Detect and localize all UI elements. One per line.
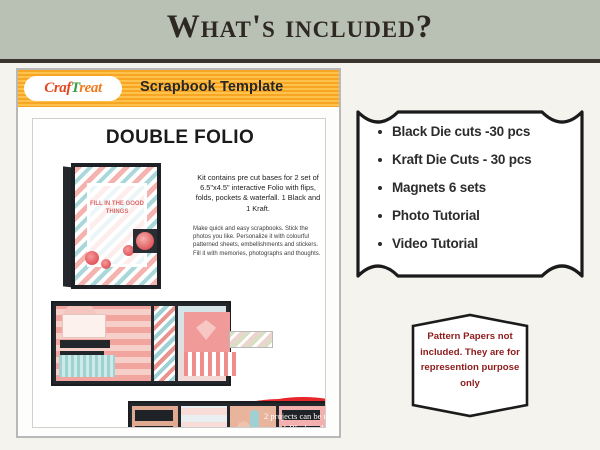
page-title: What's included? [0, 9, 600, 46]
folio-strap [250, 410, 259, 428]
folio-page-right [178, 306, 226, 381]
projects-callout-text: 2 projects can be made 1 Black and 1 Kra… [264, 410, 326, 428]
folio-pocket-column [132, 406, 178, 428]
brand-bar-title: Scrapbook Template [140, 79, 283, 95]
disclaimer-box: Pattern Papers not included. They are fo… [411, 313, 529, 418]
list-item: Photo Tutorial [378, 208, 578, 223]
folio-photo-card [62, 314, 106, 338]
brand-bar: CrafTreat Scrapbook Template [18, 70, 339, 107]
flower-icon [136, 232, 154, 250]
folio-cover-plate-text: FILL IN THE GOOD THINGS [90, 200, 144, 216]
inclusions-box: Black Die cuts -30 pcs Kraft Die Cuts - … [356, 110, 584, 278]
header-divider [0, 59, 600, 63]
folio-pattern-block [59, 355, 115, 377]
flower-icon [101, 259, 111, 269]
callout-line-2: 1 Black and [264, 422, 326, 428]
list-item: Kraft Die Cuts - 30 pcs [378, 152, 578, 167]
folio-title: DOUBLE FOLIO [33, 127, 326, 149]
folio-stripe-panel [154, 306, 175, 381]
inclusions-list: Black Die cuts -30 pcs Kraft Die Cuts - … [378, 124, 578, 264]
list-item: Video Tutorial [378, 236, 578, 251]
folio-pocket [135, 426, 174, 428]
disclaimer-text: Pattern Papers not included. They are fo… [415, 329, 525, 391]
folio-waterfall-flap [229, 331, 273, 348]
flower-icon [85, 251, 99, 265]
kit-description-main: Kit contains pre cut bases for 2 set of … [193, 173, 323, 214]
list-item: Magnets 6 sets [378, 180, 578, 195]
callout-line-1: 2 projects can be made [264, 410, 326, 422]
folio-cover-face: FILL IN THE GOOD THINGS [71, 163, 161, 289]
craftreat-logo: CrafTreat [24, 76, 122, 101]
folio-tag [60, 340, 110, 348]
product-image-card: DOUBLE FOLIO FILL IN THE GOOD THINGS Kit… [32, 118, 326, 428]
folio-pocket-column [181, 406, 227, 428]
folio-page-left [56, 306, 151, 381]
folio-pocket [135, 410, 174, 421]
folio-cover-tab [133, 229, 157, 253]
list-item: Black Die cuts -30 pcs [378, 124, 578, 139]
craftreat-logo-text: CrafTreat [44, 80, 102, 97]
kit-description-sub: Make quick and easy scrapbooks. Stick th… [193, 225, 325, 258]
folio-open-photo-1 [51, 301, 231, 386]
folio-stripe-block [184, 352, 236, 376]
folio-cover-photo: FILL IN THE GOOD THINGS [63, 163, 163, 289]
